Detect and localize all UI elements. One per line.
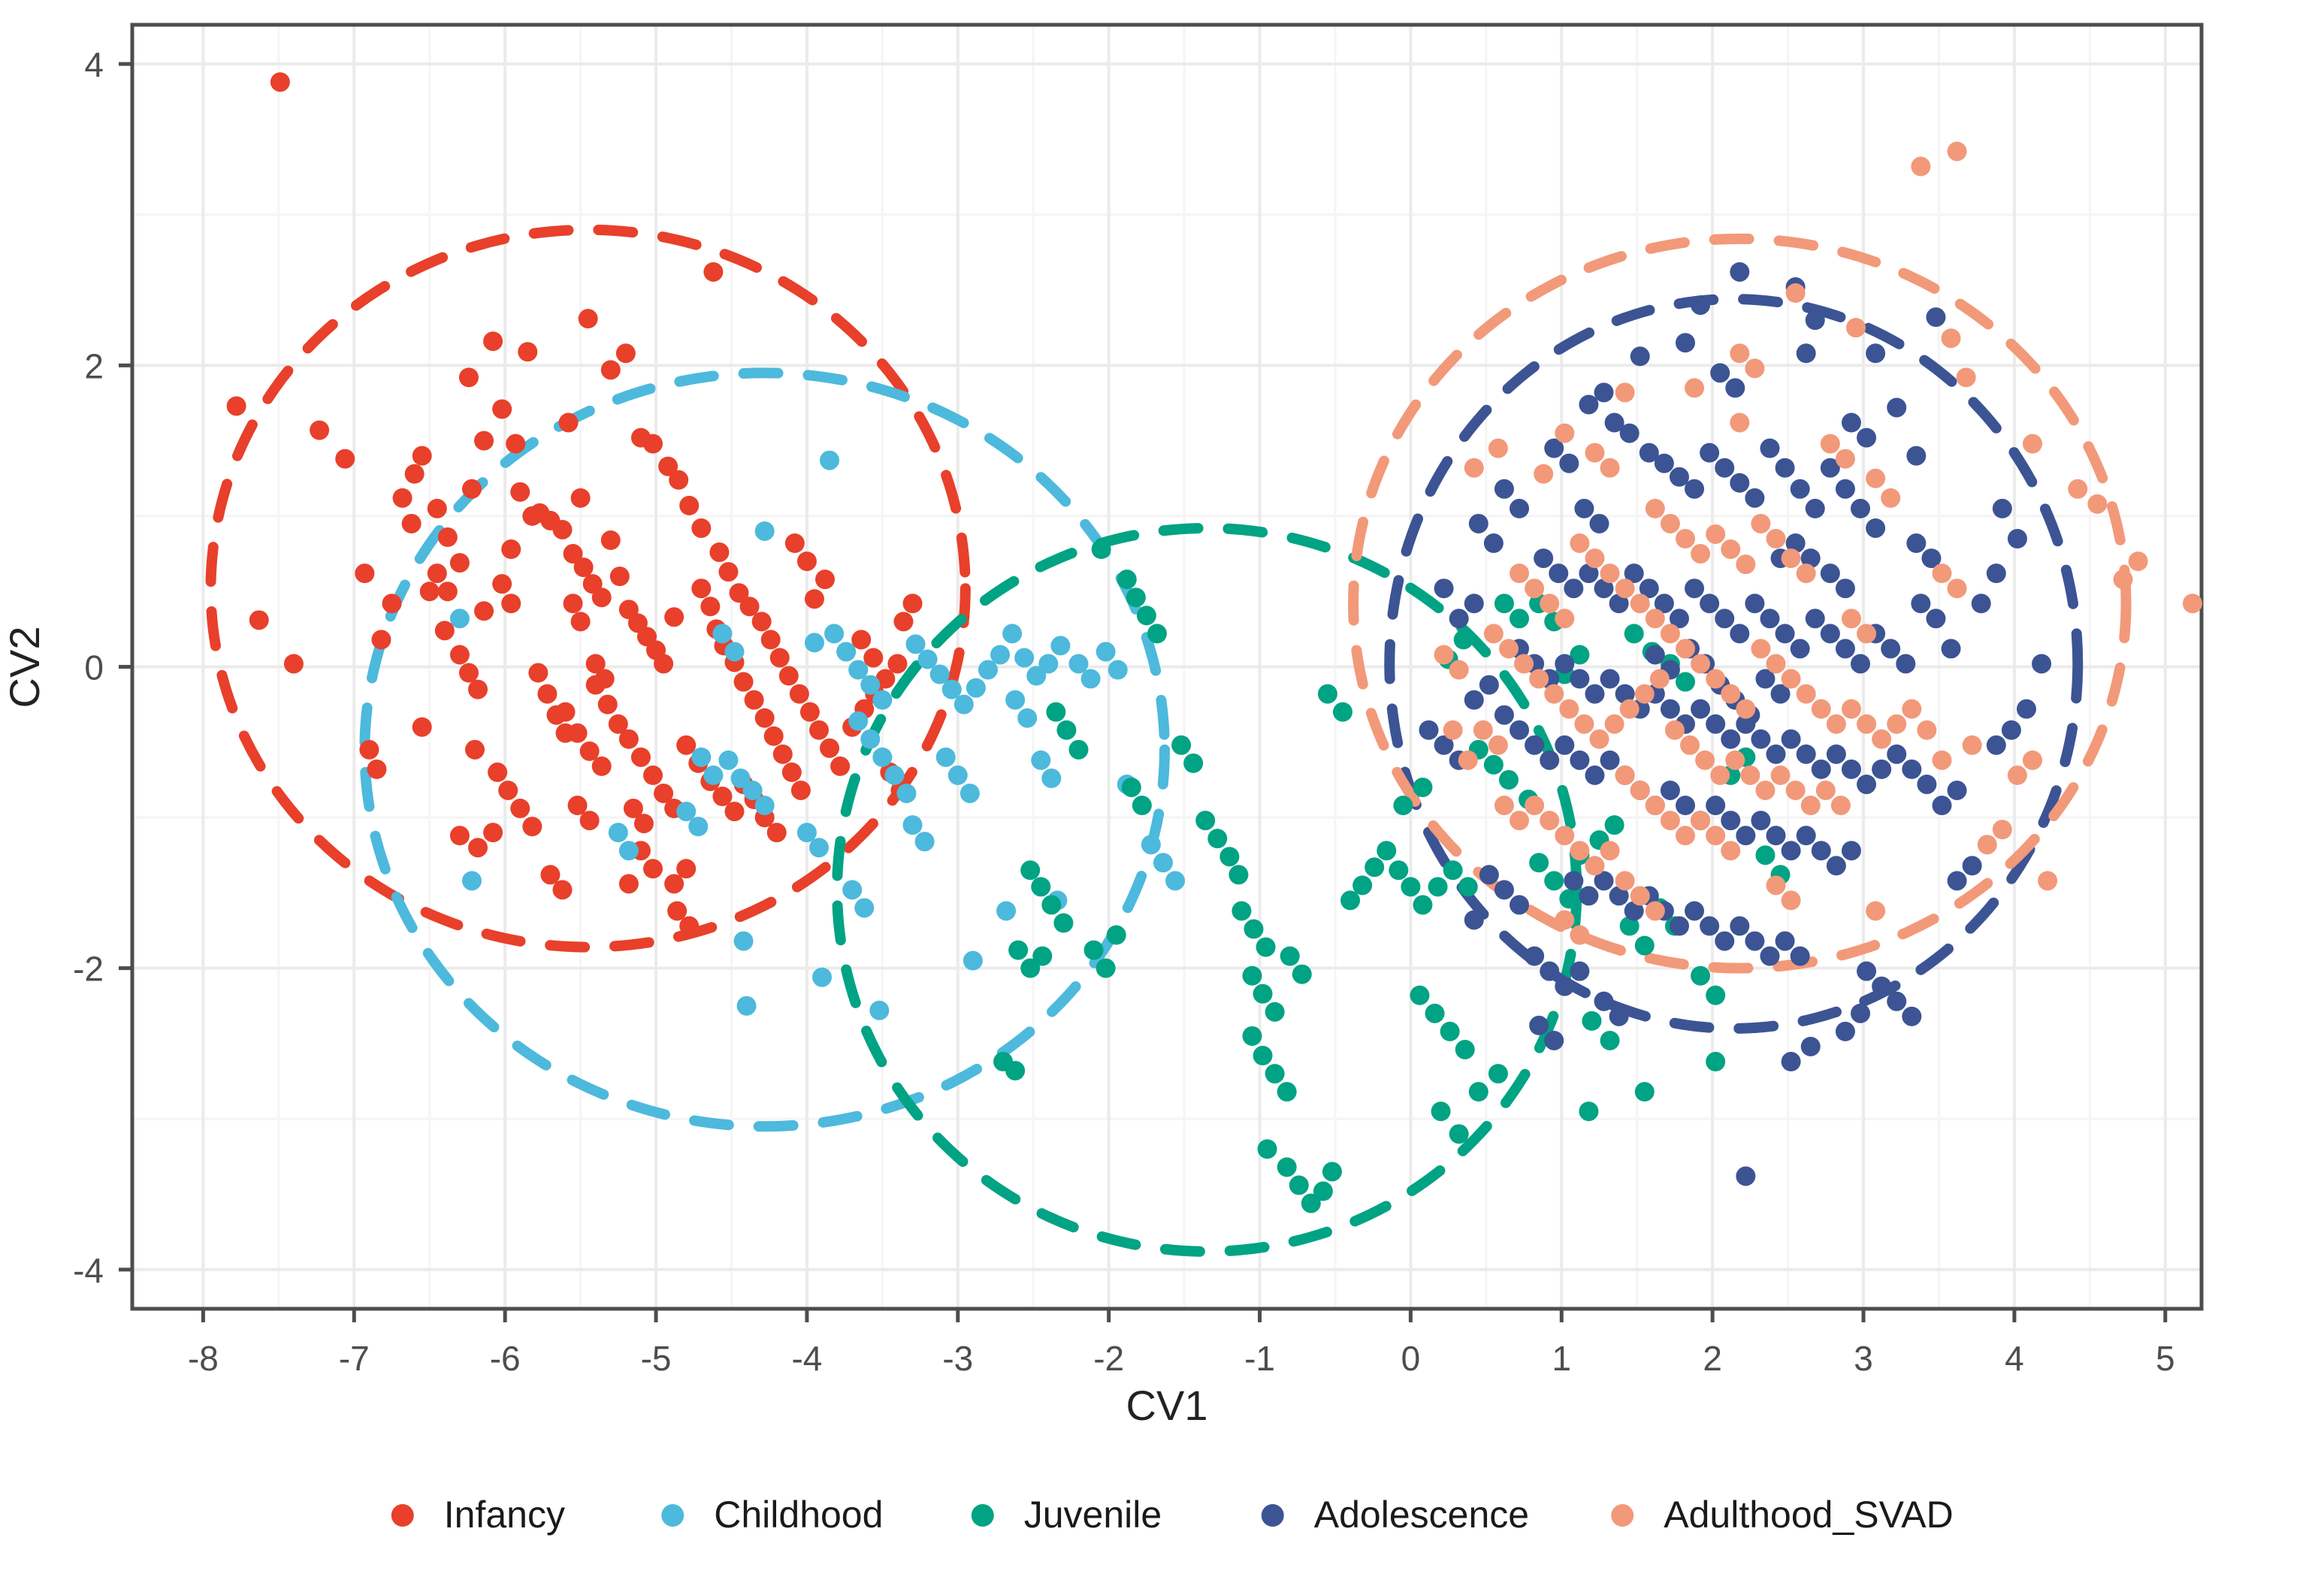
x-tick-label: -5 (641, 1339, 672, 1378)
legend-swatch-dot (391, 1504, 414, 1527)
x-tick-label: 2 (1703, 1339, 1722, 1378)
legend-label: Infancy (444, 1494, 565, 1536)
y-tick-label: -4 (73, 1251, 104, 1290)
x-tick-label: -8 (188, 1339, 219, 1378)
x-tick-label: 0 (1401, 1339, 1421, 1378)
legend-label: Childhood (714, 1494, 883, 1536)
x-tick-label: -3 (942, 1339, 973, 1378)
y-axis-title: CV2 (1, 627, 48, 708)
legend-swatch-dot (972, 1504, 994, 1527)
x-tick-label: -4 (791, 1339, 822, 1378)
y-tick-label: 0 (84, 648, 104, 687)
x-tick-label: -2 (1093, 1339, 1124, 1378)
x-axis-title: CV1 (1126, 1382, 1208, 1429)
x-tick-label: 1 (1552, 1339, 1571, 1378)
legend-label: Adolescence (1314, 1494, 1529, 1536)
legend-label: Adulthood_SVAD (1664, 1494, 1953, 1536)
y-tick-label: -2 (73, 950, 104, 989)
y-tick-label: 2 (84, 346, 104, 385)
x-tick-label: 4 (2005, 1339, 2024, 1378)
scatter-plot: -8-7-6-5-4-3-2-1012345-4-2024 CV1 CV2 In… (0, 0, 2324, 1580)
x-tick-label: -6 (490, 1339, 521, 1378)
x-tick-label: -7 (339, 1339, 370, 1378)
legend-label: Juvenile (1024, 1494, 1162, 1536)
x-tick-label: -1 (1244, 1339, 1275, 1378)
legend-swatch-dot (1262, 1504, 1284, 1527)
y-tick-label: 4 (84, 45, 104, 84)
chart-root: -8-7-6-5-4-3-2-1012345-4-2024 CV1 CV2 In… (0, 0, 2324, 1580)
legend-swatch-dot (1611, 1504, 1633, 1527)
x-tick-label: 3 (1854, 1339, 1873, 1378)
legend-swatch-dot (661, 1504, 684, 1527)
x-tick-label: 5 (2156, 1339, 2175, 1378)
